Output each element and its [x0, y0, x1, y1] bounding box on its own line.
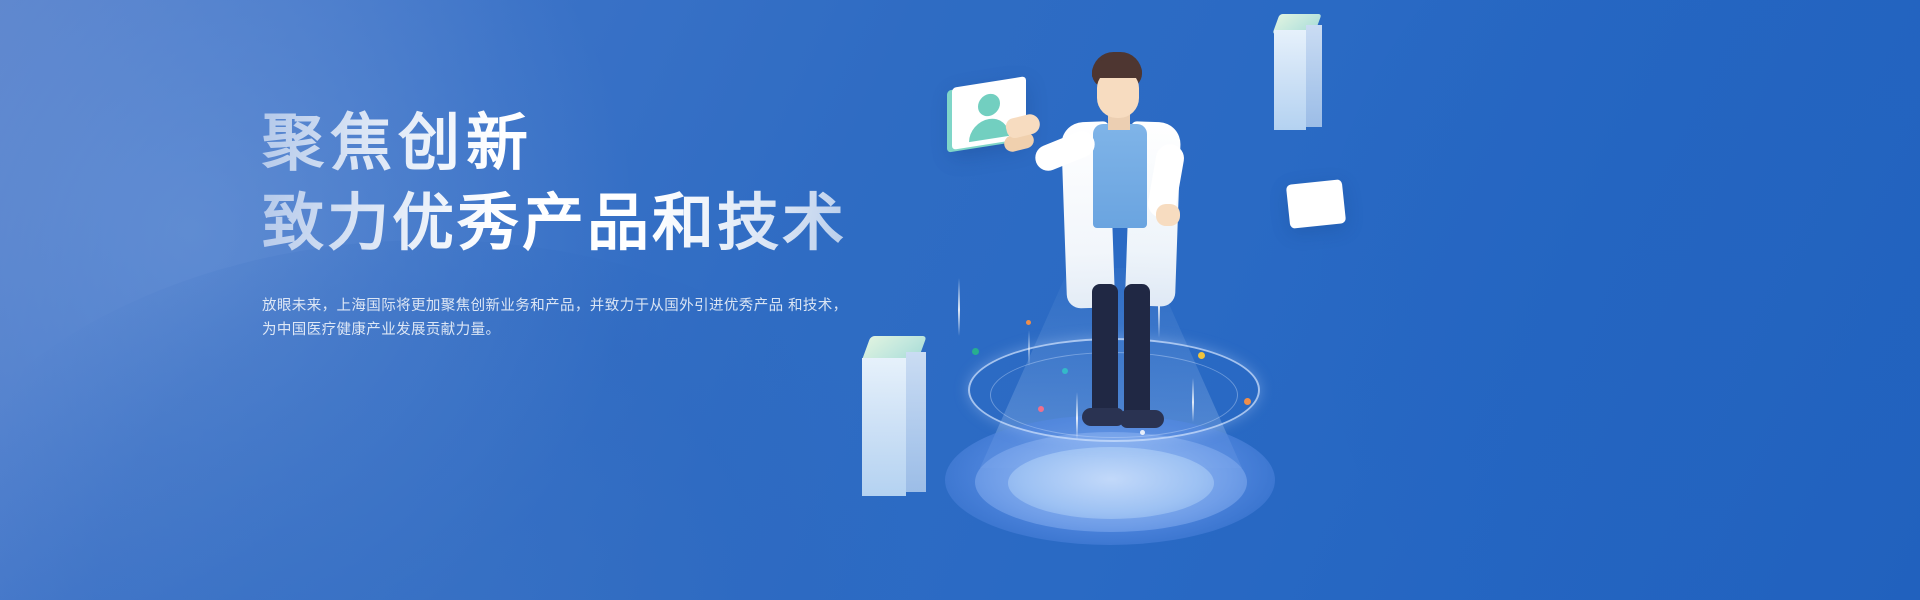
hero-paragraph: 放眼未来，上海国际将更加聚焦创新业务和产品，并致力于从国外引进优秀产品 和技术，… [262, 294, 848, 342]
hand-right [1156, 204, 1180, 226]
light-streak-5 [1028, 330, 1030, 366]
hair-front [1092, 60, 1142, 78]
shirt [1093, 124, 1147, 228]
dot-green [972, 348, 979, 355]
block-front-face [1274, 30, 1306, 130]
shoe-right [1120, 410, 1164, 428]
doctor-figure [1040, 52, 1240, 452]
leg-left [1092, 284, 1118, 416]
dot-orange-2 [1244, 398, 1251, 405]
block-short-left [858, 336, 930, 496]
user-avatar-body-icon [969, 116, 1009, 142]
shoe-left [1082, 408, 1124, 426]
block-tall-right [1270, 14, 1332, 134]
dot-orange [1026, 320, 1031, 325]
hero-copy-block: 聚焦创新 致力优秀产品和技术 放眼未来，上海国际将更加聚焦创新业务和产品，并致力… [262, 104, 882, 342]
light-streak-1 [958, 278, 960, 336]
block-front-face [862, 358, 906, 496]
hero-banner: 聚焦创新 致力优秀产品和技术 放眼未来，上海国际将更加聚焦创新业务和产品，并致力… [0, 0, 1920, 600]
leg-right [1124, 284, 1150, 416]
hero-illustration [840, 0, 1460, 600]
hero-headline-line-2: 致力优秀产品和技术 [262, 184, 882, 264]
block-side-face [906, 352, 926, 492]
user-avatar-head-icon [978, 92, 1000, 117]
hero-headline-line-1: 聚焦创新 [262, 104, 882, 184]
floating-white-card [1286, 179, 1346, 229]
block-side-face [1306, 25, 1322, 127]
hero-paragraph-line-1: 放眼未来，上海国际将更加聚焦创新业务和产品，并致力于从国外引进优秀产品 [262, 298, 784, 314]
platform-inner-disc [1008, 447, 1214, 519]
